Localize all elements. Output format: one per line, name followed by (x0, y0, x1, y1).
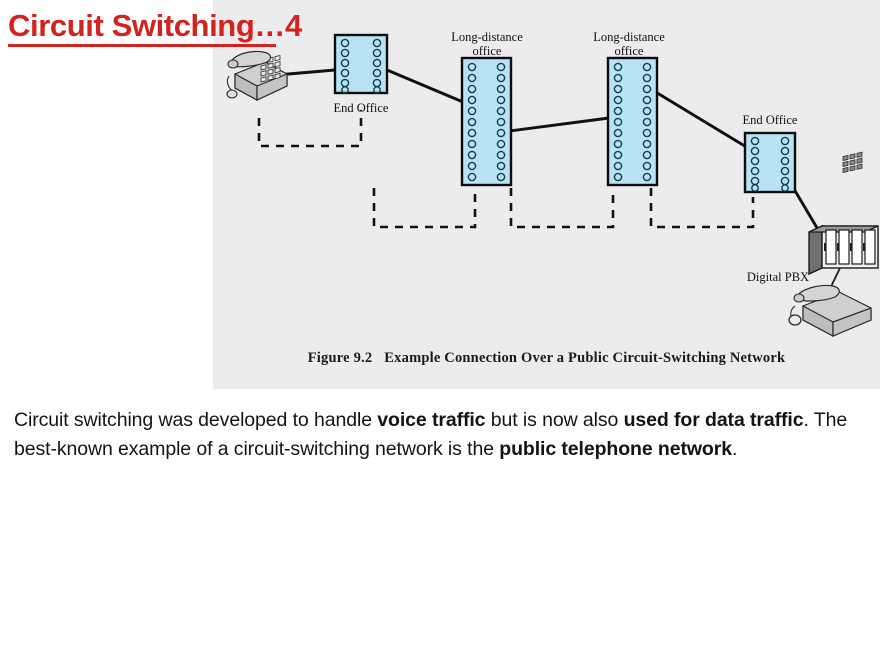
dashed-bracket-3 (511, 188, 613, 227)
figure-caption-number: Figure 9.2 (308, 350, 373, 366)
ld-office-1-label-line2: office (473, 44, 502, 58)
ld-office-2-label-line2: office (615, 44, 644, 58)
body-emphasis-3: used for data traffic (624, 409, 804, 431)
body-text-run-0: Circuit switching was developed to handl… (14, 409, 377, 431)
ld-office-2-label-line1: Long-distance (593, 30, 665, 44)
dashed-bracket-1 (259, 110, 361, 146)
figure-panel: End Office Long-distance office (213, 0, 880, 389)
node-long-distance-office-1[interactable]: Long-distance office (451, 30, 523, 185)
figure-caption-text: Example Connection Over a Public Circuit… (384, 350, 785, 366)
body-paragraph: Circuit switching was developed to handl… (14, 406, 866, 464)
figure-caption: Figure 9.2Example Connection Over a Publ… (213, 350, 880, 367)
slide-title-group: Circuit Switching…4 (8, 10, 302, 47)
end-office-right-label: End Office (743, 113, 798, 127)
digital-pbx-label: Digital PBX (747, 270, 809, 284)
ld-office-1-box[interactable] (462, 58, 511, 185)
network-diagram: End Office Long-distance office (213, 0, 880, 389)
body-text-run-2: but is now also (485, 409, 623, 431)
subscriber-telephone-icon[interactable] (227, 51, 287, 100)
slide-canvas: End Office Long-distance office (0, 0, 880, 660)
body-emphasis-1: voice traffic (377, 409, 485, 431)
dashed-bracket-2 (374, 188, 475, 227)
body-text-run-6: . (732, 438, 737, 460)
end-office-left-label: End Office (334, 101, 389, 115)
body-emphasis-5: public telephone network (499, 438, 732, 460)
link-ld2-to-endoffice (649, 88, 748, 148)
node-end-office-right[interactable]: End Office (743, 113, 798, 192)
link-ld1-to-ld2 (502, 118, 609, 132)
page-title: Circuit Switching…4 (8, 10, 302, 43)
node-long-distance-office-2[interactable]: Long-distance office (593, 30, 665, 185)
circuit-path (265, 70, 826, 243)
end-office-left-box[interactable] (335, 35, 387, 93)
dashed-bracket-4 (651, 188, 753, 227)
node-end-office-left[interactable]: End Office (334, 35, 389, 115)
ld-office-1-label-line1: Long-distance (451, 30, 523, 44)
title-underline (8, 44, 276, 47)
link-endoffice-to-ld1 (387, 70, 463, 102)
ld-office-2-box[interactable] (608, 58, 657, 185)
